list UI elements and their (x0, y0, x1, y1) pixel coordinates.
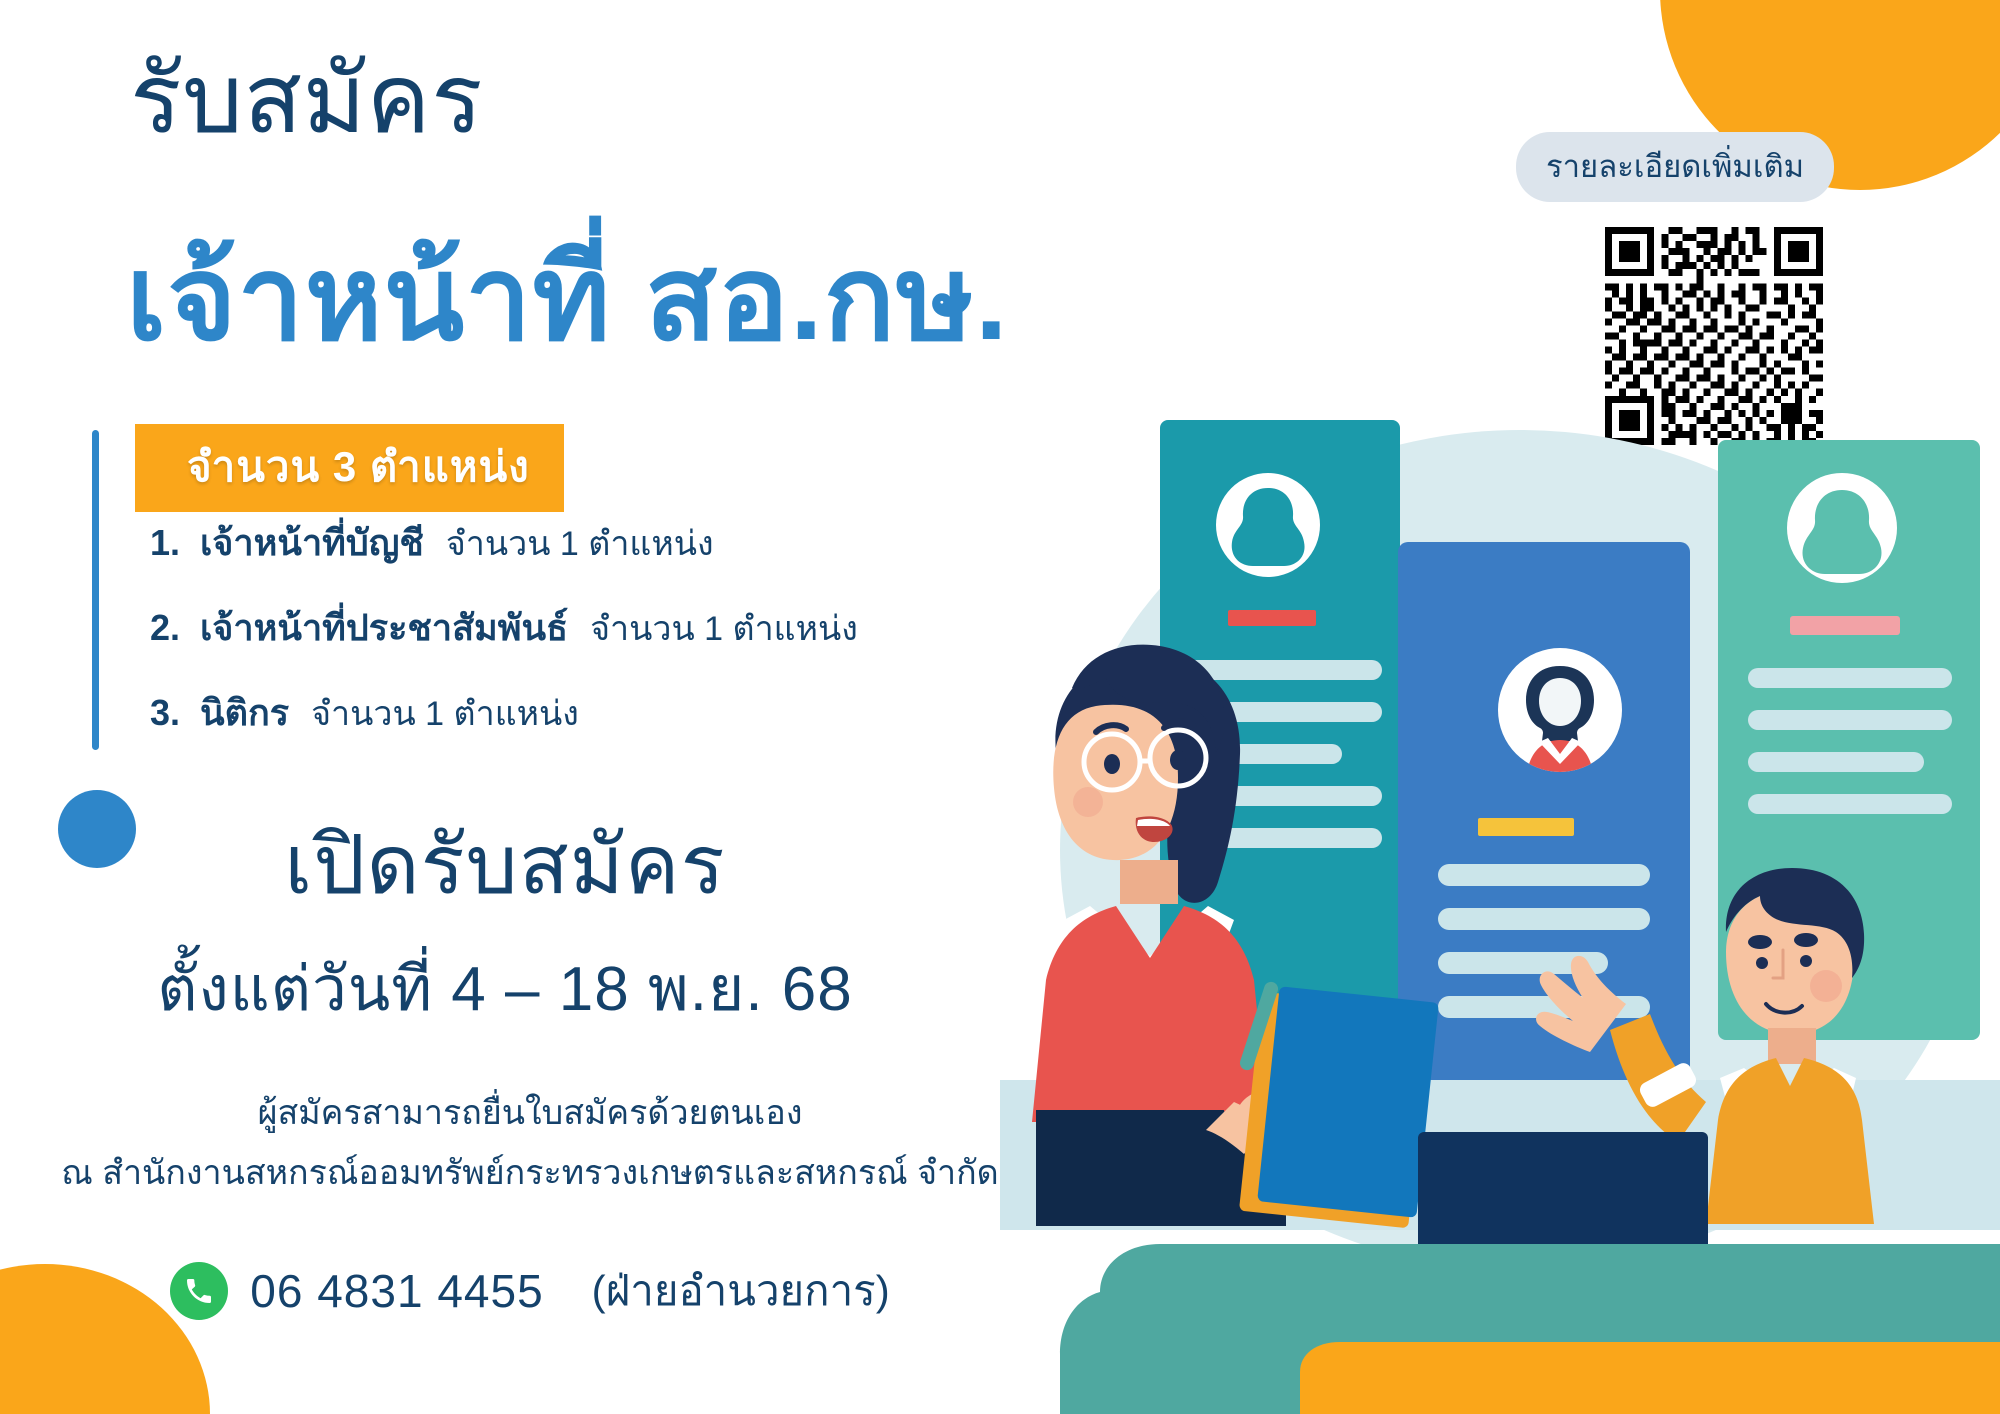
application-period: ตั้งแต่วันที่ 4 – 18 พ.ย. 68 (0, 940, 1010, 1038)
list-item-title: นิติกร (200, 684, 289, 741)
page-title-secondary: เจ้าหน้าที่ สอ.กษ. (126, 240, 1009, 358)
vertical-rule-divider (92, 430, 99, 750)
qr-label-pill: รายละเอียดเพิ่มเติม (1516, 132, 1834, 202)
list-item-number: 1. (150, 522, 188, 564)
recruitment-poster: รับสมัคร เจ้าหน้าที่ สอ.กษ. จำนวน 3 ตำแห… (0, 0, 2000, 1414)
page-title-primary: รับสมัคร (130, 52, 483, 148)
position-count-banner: จำนวน 3 ตำแหน่ง (135, 424, 564, 512)
list-item-title: เจ้าหน้าที่ประชาสัมพันธ์ (200, 599, 568, 656)
list-item: 2. เจ้าหน้าที่ประชาสัมพันธ์ จำนวน 1 ตำแห… (150, 599, 1050, 656)
position-list: 1. เจ้าหน้าที่บัญชี จำนวน 1 ตำแหน่ง 2. เ… (150, 514, 1050, 769)
contact-row: 06 4831 4455 (ฝ่ายอำนวยการ) (0, 1258, 1060, 1324)
list-item-number: 3. (150, 692, 188, 734)
list-item-quantity: จำนวน 1 ตำแหน่ง (311, 686, 579, 740)
qr-code[interactable] (1598, 220, 1830, 452)
phone-department: (ฝ่ายอำนวยการ) (592, 1258, 890, 1324)
list-item: 1. เจ้าหน้าที่บัญชี จำนวน 1 ตำแหน่ง (150, 514, 1050, 571)
phone-icon (170, 1262, 228, 1320)
list-item-quantity: จำนวน 1 ตำแหน่ง (590, 601, 858, 655)
application-note-line-2: ณ สำนักงานสหกรณ์ออมทรัพย์กระทรวงเกษตรและ… (0, 1145, 1060, 1199)
folder (1238, 980, 1439, 1228)
phone-number: 06 4831 4455 (250, 1264, 543, 1318)
list-item-number: 2. (150, 607, 188, 649)
open-application-title: เปิดรับสมัคร (0, 800, 1010, 930)
list-item-quantity: จำนวน 1 ตำแหน่ง (446, 516, 714, 570)
recruitment-illustration (1000, 420, 2000, 1414)
application-note-line-1: ผู้สมัครสามารถยื่นใบสมัครด้วยตนเอง (0, 1085, 1060, 1139)
list-item-title: เจ้าหน้าที่บัญชี (200, 514, 424, 571)
list-item: 3. นิติกร จำนวน 1 ตำแหน่ง (150, 684, 1050, 741)
